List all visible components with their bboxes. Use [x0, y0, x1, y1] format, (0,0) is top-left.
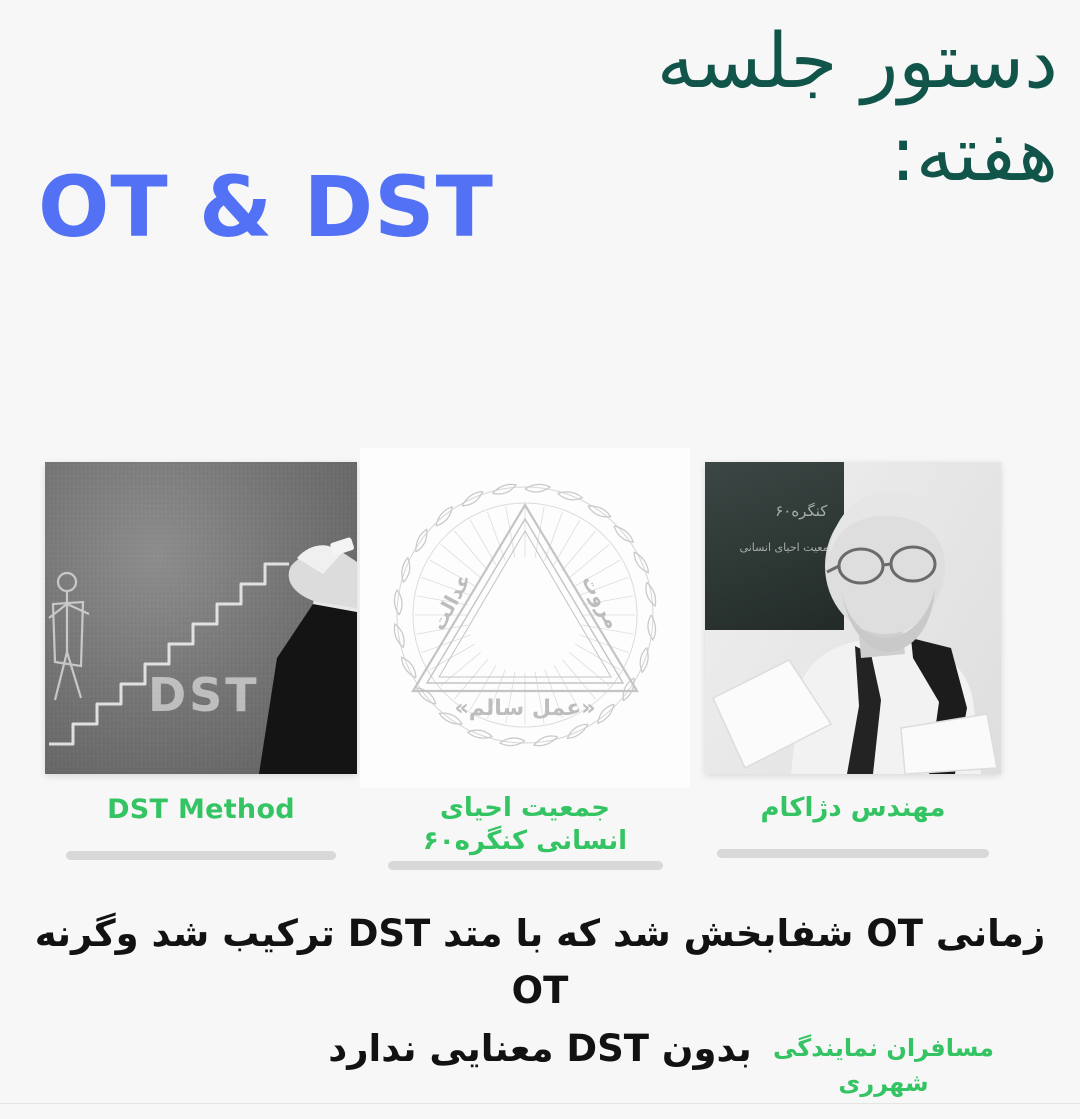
engineer-portrait-photo: کنگره۶۰ جمعیت احیای انسانی: [705, 462, 1001, 774]
chalk-piece: [330, 537, 355, 556]
hand-shape: [289, 545, 357, 608]
emblem-canvas: عدالت مروت «عمل سالم»: [360, 448, 690, 788]
congress60-seal-icon: عدالت مروت «عمل سالم»: [365, 453, 685, 783]
card-divider: [717, 849, 989, 858]
emblem-word-amal-salem: «عمل سالم»: [455, 696, 596, 721]
body-line-1: زمانی OT شفابخش شد که با متد DST ترکیب ش…: [26, 905, 1054, 1020]
caption-line-1: جمعیت احیای: [360, 792, 690, 825]
footer-line-1: مسافران نمایندگی: [773, 1031, 994, 1066]
header-line-1: دستور جلسه: [418, 18, 1058, 103]
portrait-figure-icon: [705, 462, 1001, 774]
footer-signature: مسافران نمایندگی شهرری: [773, 1031, 994, 1101]
emblem-word-adalat: عدالت: [426, 569, 476, 634]
footer-line-2: شهرری: [773, 1066, 994, 1101]
page-title: OT & DST: [38, 165, 494, 249]
header-line-2: هفته:: [418, 111, 1058, 196]
emblem-words: عدالت مروت «عمل سالم»: [426, 569, 625, 721]
cards-row: DST DST Method: [0, 448, 1080, 878]
bottom-divider: [0, 1103, 1080, 1104]
hand-with-chalk-icon: [45, 462, 357, 774]
card-engineer-dezhakam[interactable]: کنگره۶۰ جمعیت احیای انسانی: [705, 448, 1001, 858]
caption-line-2: انسانی کنگره۶۰: [360, 825, 690, 858]
sleeve-shape: [259, 582, 357, 774]
card-congress60[interactable]: عدالت مروت «عمل سالم» جمعیت احیای انسانی…: [360, 448, 690, 870]
chalkboard-stairs-photo: DST: [45, 462, 357, 774]
card-caption-congress60: جمعیت احیای انسانی کنگره۶۰: [360, 792, 690, 857]
card-divider: [66, 851, 336, 860]
slide-canvas: دستور جلسه هفته: OT & DST: [0, 0, 1080, 1119]
card-caption-engineer: مهندس دژاکام: [705, 792, 1001, 825]
card-divider: [388, 861, 663, 870]
congress60-emblem: عدالت مروت «عمل سالم»: [360, 448, 690, 788]
card-caption-dst-method: DST Method: [45, 794, 357, 825]
page-header: دستور جلسه هفته:: [418, 18, 1058, 196]
card-dst-method[interactable]: DST DST Method: [45, 448, 357, 860]
